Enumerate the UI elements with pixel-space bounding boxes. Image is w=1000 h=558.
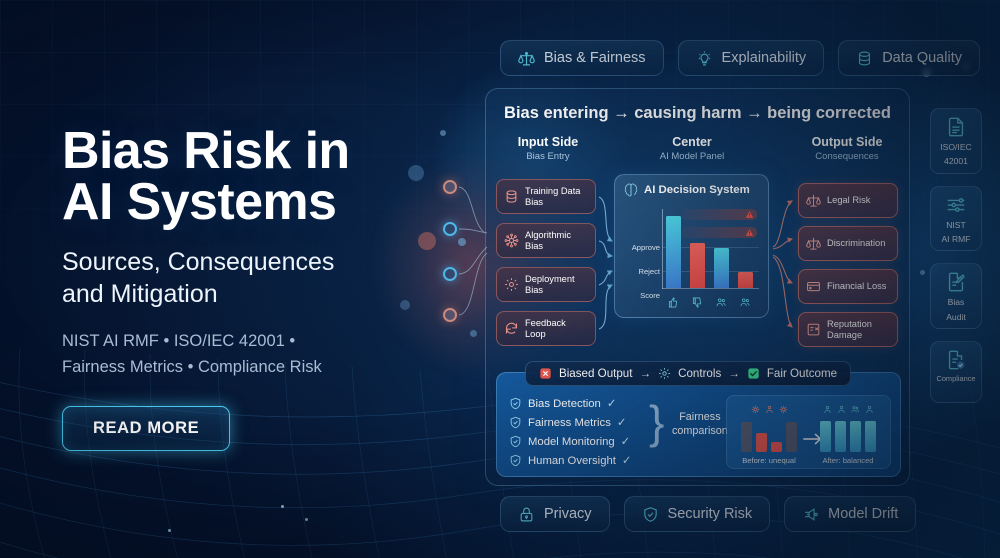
- y-label-approve: Approve: [624, 243, 660, 252]
- checkmark: ✓: [617, 416, 626, 429]
- gear-icon: [658, 367, 671, 380]
- standards-badge-rail: ISO/IEC 42001 NIST AI RMF Bias Audit Com…: [930, 108, 982, 403]
- meta-line-1: NIST AI RMF • ISO/IEC 42001 •: [62, 332, 295, 350]
- network-icon: [504, 233, 519, 248]
- group-icon: [714, 297, 729, 308]
- chip-explainability[interactable]: Explainability: [678, 40, 825, 76]
- broken-doc-icon: [806, 322, 821, 337]
- shield-check-icon: [509, 454, 522, 467]
- badge-line-2: 42001: [944, 156, 968, 166]
- title-line-2: AI Systems: [62, 173, 336, 231]
- chip-model-drift[interactable]: Model Drift: [784, 496, 916, 532]
- y-axis: [662, 209, 663, 289]
- scales-icon: [806, 193, 821, 208]
- after-bars: [811, 418, 885, 452]
- chip-privacy[interactable]: Privacy: [500, 496, 610, 532]
- refresh-icon: [504, 321, 519, 336]
- y-label-reject: Reject: [624, 267, 660, 276]
- output-card-reputation-damage[interactable]: Reputation Damage: [798, 312, 898, 347]
- before-bar: [756, 433, 767, 452]
- column-header-output: Output Side Consequences: [792, 135, 902, 162]
- database-icon: [856, 50, 873, 67]
- badge-line-1: ISO/IEC: [940, 142, 972, 152]
- column-title: Output Side: [792, 135, 902, 149]
- checkmark: ✓: [622, 454, 631, 467]
- top-chip-row: Bias & Fairness Explainability Data Qual…: [500, 40, 980, 76]
- output-card-financial-loss[interactable]: Financial Loss: [798, 269, 898, 304]
- document-check-icon: [945, 349, 967, 371]
- card-label: Discrimination: [827, 238, 890, 249]
- lock-icon: [518, 506, 535, 523]
- after-icon-row: [811, 403, 885, 415]
- before-icon-row: [732, 403, 806, 415]
- poster-canvas: Bias Risk in AI Systems Sources, Consequ…: [0, 0, 1000, 558]
- after-bar: [850, 421, 861, 452]
- bottom-chip-row: Privacy Security Risk Model Drift: [500, 496, 916, 532]
- sliders-icon: [945, 194, 967, 216]
- title-line-1: Bias Risk in: [62, 122, 350, 180]
- chip-label: Model Drift: [828, 506, 898, 522]
- flow-arrow: →: [639, 367, 651, 380]
- column-subtitle: Consequences: [792, 151, 902, 162]
- bokeh-dot: [281, 505, 284, 508]
- label-line-2: comparison: [672, 424, 728, 438]
- mitigation-flow-bar: Biased Output → Controls → Fair Outcome: [525, 361, 851, 386]
- label-line-1: Fairness: [672, 410, 728, 424]
- badge-line-2: AI RMF: [941, 234, 970, 244]
- checklist-item-bias-detection[interactable]: Bias Detection ✓: [509, 397, 631, 410]
- chip-data-quality[interactable]: Data Quality: [838, 40, 980, 76]
- document-edit-icon: [945, 271, 967, 293]
- column-header-input: Input Side Bias Entry: [494, 135, 602, 162]
- document-icon: [945, 116, 967, 138]
- thumbs-up-icon: [666, 297, 681, 308]
- gear-icon: [504, 277, 519, 292]
- brain-icon: [624, 183, 638, 197]
- checklist-label: Fairness Metrics: [528, 417, 611, 429]
- after-bar: [820, 421, 831, 452]
- before-bars: [732, 418, 806, 452]
- column-subtitle: Bias Entry: [494, 151, 602, 162]
- card-label: Algorithmic Bias: [525, 230, 588, 251]
- badge-bias-audit[interactable]: Bias Audit: [930, 263, 982, 329]
- node-connectors: [425, 175, 495, 340]
- checklist-label: Model Monitoring: [528, 436, 615, 448]
- badge-iso-iec-42001[interactable]: ISO/IEC 42001: [930, 108, 982, 174]
- shield-check-icon: [509, 397, 522, 410]
- before-caption: Before: unequal: [732, 456, 806, 465]
- after-group: After: balanced: [811, 403, 885, 465]
- card-label: Financial Loss: [827, 281, 890, 292]
- input-card-feedback-loop[interactable]: Feedback Loop: [496, 311, 596, 346]
- ai-box-header: AI Decision System: [615, 175, 768, 197]
- brace-decoration: }: [649, 399, 664, 445]
- card-icon: [806, 279, 821, 294]
- fairness-comparison-label: Fairness comparison: [672, 410, 728, 438]
- x-axis: [662, 288, 759, 289]
- column-title: Center: [636, 135, 748, 149]
- card-label: Feedback Loop: [525, 318, 588, 339]
- check-square-icon: [747, 367, 760, 380]
- input-card-deployment-bias[interactable]: Deployment Bias: [496, 267, 596, 302]
- column-header-center: Center AI Model Panel: [636, 135, 748, 162]
- fairness-comparison-chart: Before: unequal: [726, 395, 891, 469]
- scales-icon: [518, 50, 535, 67]
- chip-label: Data Quality: [882, 50, 962, 66]
- lightbulb-icon: [696, 50, 713, 67]
- database-icon: [504, 189, 519, 204]
- chip-label: Privacy: [544, 506, 592, 522]
- badge-line-1: NIST: [946, 220, 966, 230]
- flow-label-controls: Controls: [678, 367, 721, 380]
- flow-label-fair-outcome: Fair Outcome: [767, 367, 837, 380]
- bar-icon-row: [666, 297, 753, 308]
- checklist-item-fairness-metrics[interactable]: Fairness Metrics ✓: [509, 416, 631, 429]
- checklist-label: Human Oversight: [528, 455, 616, 467]
- badge-compliance[interactable]: Compliance: [930, 341, 982, 403]
- flow-label-biased-output: Biased Output: [559, 367, 632, 380]
- checklist-item-human-oversight[interactable]: Human Oversight ✓: [509, 454, 631, 467]
- bar-group-b: [738, 272, 753, 288]
- ai-decision-chart: Approve Reject Score: [624, 205, 761, 311]
- x-square-icon: [539, 367, 552, 380]
- card-label: Training Data Bias: [525, 186, 588, 207]
- checkmark: ✓: [607, 397, 616, 410]
- column-title: Input Side: [494, 135, 602, 149]
- bokeh-dot: [305, 518, 308, 521]
- before-bar: [771, 442, 782, 452]
- chip-label: Bias & Fairness: [544, 50, 646, 66]
- badge-line-1: Bias: [948, 297, 965, 307]
- chip-label: Security Risk: [668, 506, 753, 522]
- column-subtitle: AI Model Panel: [636, 151, 748, 162]
- checklist-item-model-monitoring[interactable]: Model Monitoring ✓: [509, 435, 631, 448]
- shield-check-icon: [642, 506, 659, 523]
- output-card-discrimination[interactable]: Discrimination: [798, 226, 898, 261]
- y-label-score: Score: [624, 291, 660, 300]
- badge-line-2: Audit: [946, 312, 966, 322]
- chip-label: Explainability: [722, 50, 807, 66]
- shield-check-icon: [509, 435, 522, 448]
- bar-approve: [666, 216, 681, 288]
- ai-box-title: AI Decision System: [644, 184, 750, 196]
- badge-nist-ai-rmf[interactable]: NIST AI RMF: [930, 186, 982, 252]
- output-card-legal-risk[interactable]: Legal Risk: [798, 183, 898, 218]
- ai-decision-system-box: AI Decision System Approve Reject Score: [614, 174, 769, 318]
- checkmark: ✓: [621, 435, 630, 448]
- after-bar: [835, 421, 846, 452]
- mitigation-checklist: Bias Detection ✓ Fairness Metrics ✓ Mode…: [509, 397, 631, 473]
- panel-title: Bias entering → causing harm → being cor…: [486, 104, 909, 123]
- hero-subtitle: Sources, Consequences and Mitigation: [62, 246, 462, 310]
- checklist-label: Bias Detection: [528, 398, 601, 410]
- badge-line-1: Compliance: [936, 375, 975, 384]
- scales-icon: [806, 236, 821, 251]
- main-diagram-panel: Bias entering → causing harm → being cor…: [485, 88, 910, 486]
- shield-check-icon: [509, 416, 522, 429]
- drift-icon: [802, 506, 819, 523]
- before-group: Before: unequal: [732, 403, 806, 465]
- subtitle-line-2: and Mitigation: [62, 280, 218, 308]
- read-more-button[interactable]: READ MORE: [62, 406, 230, 451]
- hero-meta: NIST AI RMF • ISO/IEC 42001 • Fairness M…: [62, 329, 462, 380]
- bar-group-a: [714, 248, 729, 288]
- chip-bias-fairness[interactable]: Bias & Fairness: [500, 40, 664, 76]
- mitigation-panel: Biased Output → Controls → Fair Outcome …: [496, 372, 901, 477]
- input-card-algorithmic-bias[interactable]: Algorithmic Bias: [496, 223, 596, 258]
- card-label: Reputation Damage: [827, 319, 890, 340]
- subtitle-line-1: Sources, Consequences: [62, 248, 334, 276]
- meta-line-2: Fairness Metrics • Compliance Risk: [62, 358, 322, 376]
- after-bar: [865, 421, 876, 452]
- bokeh-dot: [168, 529, 171, 532]
- before-bar: [741, 422, 752, 452]
- group-icon: [738, 297, 753, 308]
- bias-source-nodes: [425, 175, 495, 340]
- flow-arrow: →: [728, 367, 740, 380]
- hero-section: Bias Risk in AI Systems Sources, Consequ…: [62, 126, 462, 451]
- card-label: Deployment Bias: [525, 274, 588, 295]
- before-bar: [786, 422, 797, 452]
- after-caption: After: balanced: [811, 456, 885, 465]
- input-card-training-data-bias[interactable]: Training Data Bias: [496, 179, 596, 214]
- thumbs-down-icon: [690, 297, 705, 308]
- bokeh-dot: [920, 270, 925, 275]
- bar-group: [666, 216, 757, 288]
- card-label: Legal Risk: [827, 195, 890, 206]
- bar-reject: [690, 243, 705, 288]
- chip-security-risk[interactable]: Security Risk: [624, 496, 771, 532]
- page-title: Bias Risk in AI Systems: [62, 126, 462, 229]
